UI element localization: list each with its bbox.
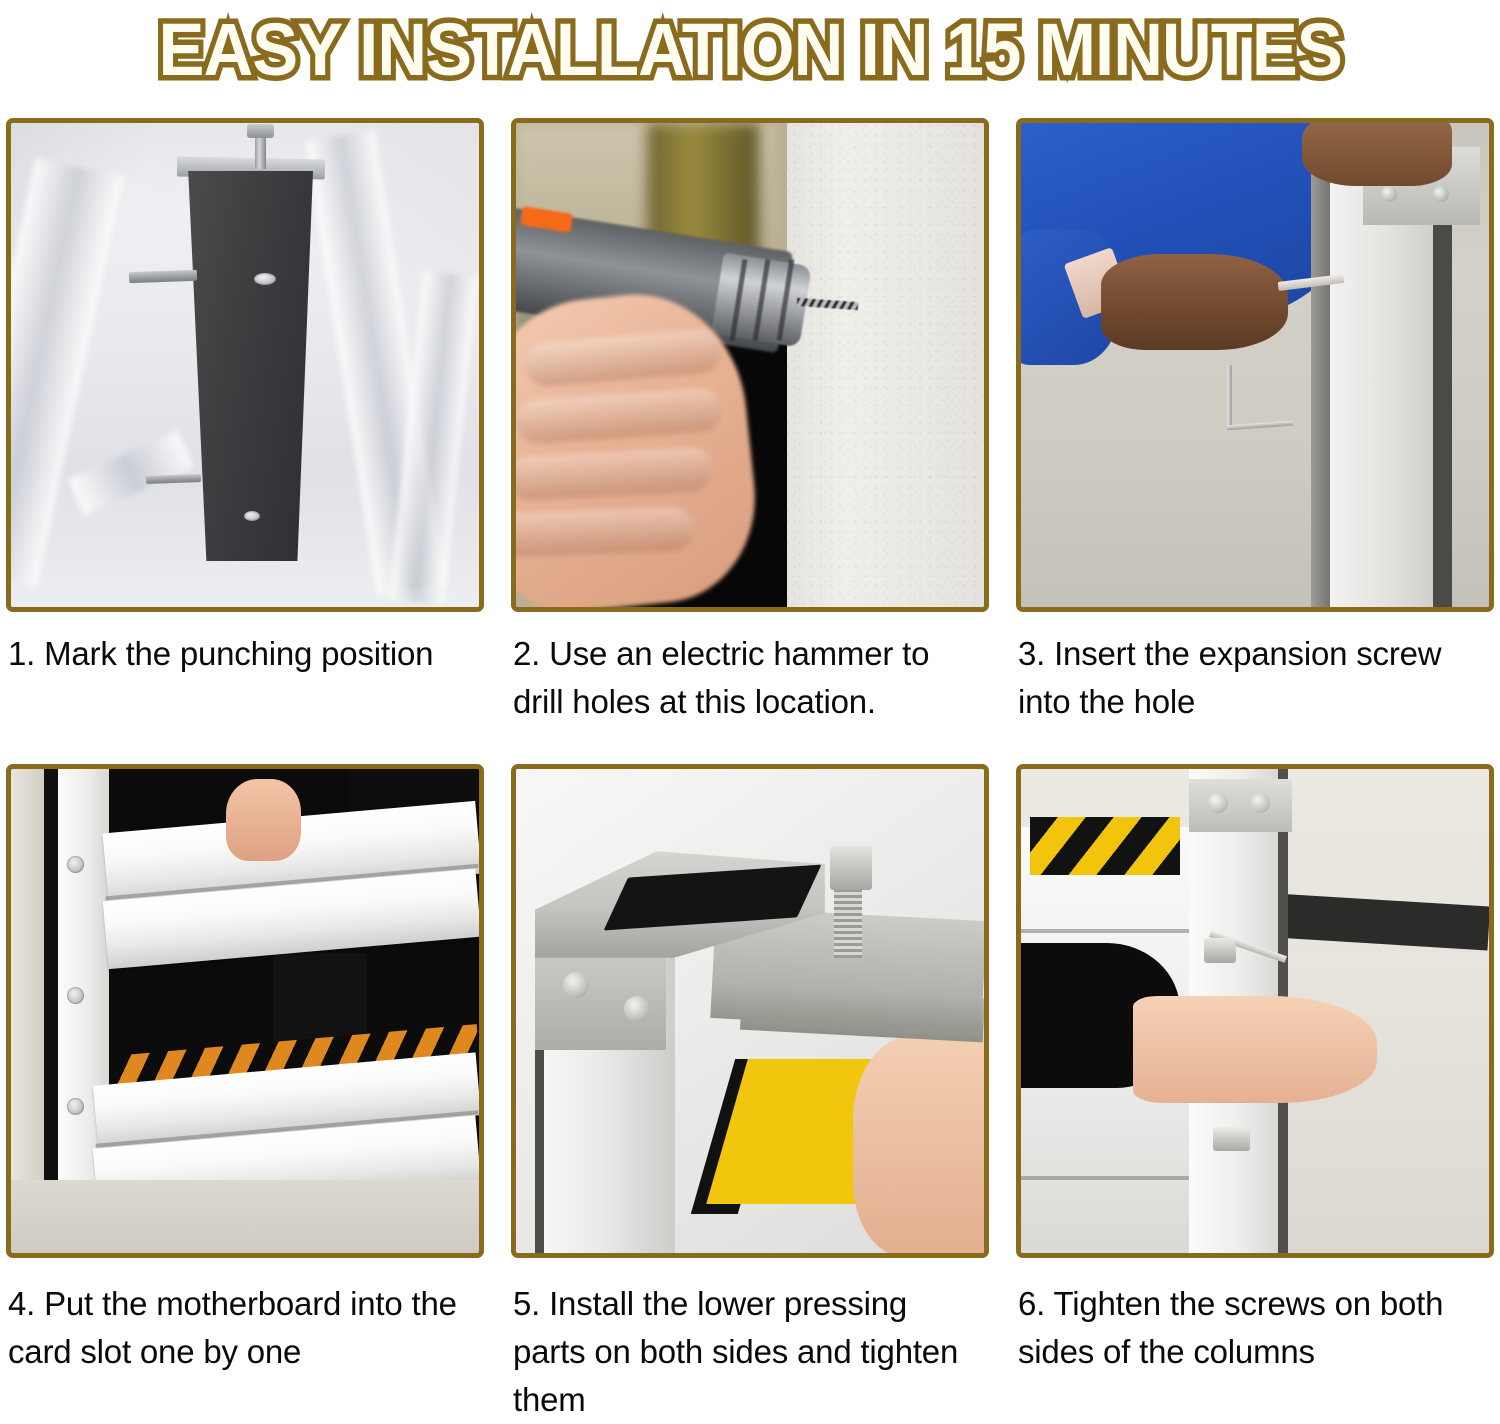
step-4-photo-frame	[6, 764, 484, 1258]
floor	[11, 1180, 479, 1253]
board-seam	[1021, 1176, 1194, 1180]
bracket-front-face	[535, 943, 666, 1049]
step-card-4: 4. Put the motherboard into the card slo…	[0, 764, 500, 1424]
photo-lower-pressing-part	[516, 769, 984, 1253]
steps-row-2: 4. Put the motherboard into the card slo…	[0, 764, 1500, 1424]
installer-hand	[226, 779, 301, 861]
photo-boards-into-slots	[11, 769, 479, 1253]
step-2-photo-frame	[511, 118, 989, 612]
column-bolt-hole	[67, 987, 84, 1004]
top-bolt-shaft	[255, 133, 266, 169]
bracket-screw	[1433, 186, 1449, 202]
textured-wall	[787, 123, 984, 607]
steps-row-1: 1. Mark the punching position	[0, 118, 1500, 750]
step-card-3: 3. Insert the expansion screw into the h…	[1000, 118, 1500, 750]
top-bolt-head	[247, 124, 274, 138]
mounting-hole-upper	[254, 273, 276, 285]
finger	[516, 507, 695, 557]
mounting-hole-lower	[244, 511, 260, 521]
allen-key-vertical-arm	[1227, 365, 1232, 428]
lower-bolt	[1213, 1127, 1250, 1151]
installer-hand	[853, 1035, 984, 1253]
step-6-photo-frame	[1016, 764, 1494, 1258]
step-5-caption: 5. Install the lower pressing parts on b…	[511, 1258, 989, 1424]
step-4-caption: 4. Put the motherboard into the card slo…	[6, 1258, 484, 1400]
step-2-caption: 2. Use an electric hammer to drill holes…	[511, 612, 989, 750]
hazard-stripe-tape	[1030, 817, 1180, 875]
top-bracket	[1189, 779, 1292, 832]
page-title: EASY INSTALLATION IN 15 MINUTES	[158, 10, 1341, 90]
step-card-5: 5. Install the lower pressing parts on b…	[500, 764, 1000, 1424]
step-1-caption: 1. Mark the punching position	[6, 612, 484, 750]
photo-drilling-wall	[516, 123, 984, 607]
bolt-head	[830, 846, 872, 890]
bracket-screw	[563, 972, 589, 998]
photo-column-base	[11, 123, 479, 607]
bolt-threaded-shaft	[834, 880, 862, 957]
worker-hand-upper	[1302, 123, 1452, 186]
step-5-photo-frame	[511, 764, 989, 1258]
board-seam	[1021, 929, 1194, 933]
banner-title-bar: EASY INSTALLATION IN 15 MINUTES	[0, 0, 1500, 100]
step-card-6: 6. Tighten the screws on both sides of t…	[1000, 764, 1500, 1424]
step-card-1: 1. Mark the punching position	[0, 118, 500, 750]
photo-tighten-screws	[1021, 769, 1489, 1253]
wrench-head	[1204, 938, 1237, 962]
steps-grid: 1. Mark the punching position	[0, 118, 1500, 1424]
step-3-caption: 3. Insert the expansion screw into the h…	[1016, 612, 1494, 750]
step-3-photo-frame	[1016, 118, 1494, 612]
installer-hand	[1133, 996, 1376, 1102]
bracket-screw	[624, 996, 650, 1022]
step-card-2: 2. Use an electric hammer to drill holes…	[500, 118, 1000, 750]
step-6-caption: 6. Tighten the screws on both sides of t…	[1016, 1258, 1494, 1400]
worker-hand-lower	[1101, 254, 1288, 351]
step-1-photo-frame	[6, 118, 484, 612]
photo-insert-expansion-screw	[1021, 123, 1489, 607]
